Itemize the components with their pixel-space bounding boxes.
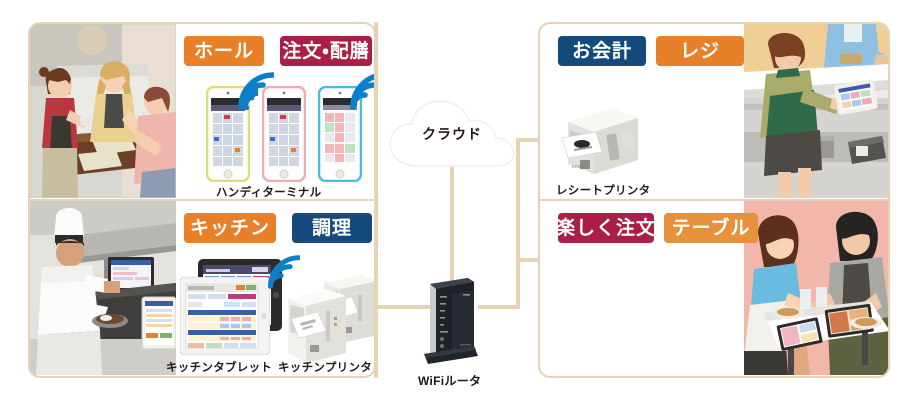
caption-kitchen-printer: キッチンプリンタ (278, 359, 372, 375)
illustration-customers-table-ordering (744, 201, 890, 375)
illustration-chef-cooking (30, 201, 176, 375)
system-diagram: ホール 注文・配膳 (0, 0, 920, 400)
badge-fun-ordering[interactable]: 楽しく注文 (558, 213, 654, 243)
kitchen-printer-1[interactable] (282, 285, 348, 370)
panel-hall: ホール 注文・配膳 (28, 22, 376, 200)
badge-hall[interactable]: ホール (184, 36, 264, 66)
wifi-signal-icon (236, 72, 274, 115)
badge-checkout[interactable]: お会計 (558, 36, 646, 66)
illustration-waitress-taking-order (30, 24, 176, 198)
wire-cloud-to-router (450, 158, 454, 288)
badge-register[interactable]: レジ (656, 36, 744, 66)
caption-kitchen-tablet: キッチンタブレット (166, 359, 272, 375)
wire-right-riser (516, 140, 520, 309)
badge-kitchen[interactable]: キッチン (184, 213, 276, 243)
illustration-cashier-at-register (744, 24, 890, 198)
svg-text:EPSON: EPSON (572, 164, 586, 169)
caption-wifi-router: WiFiルータ (418, 372, 481, 389)
wifi-router[interactable] (416, 272, 484, 373)
caption-handy-terminal: ハンディターミナル (216, 184, 321, 200)
badge-table[interactable]: テーブル (664, 213, 758, 243)
kitchen-tablet-white[interactable] (180, 277, 270, 360)
wire-router-to-right-riser (478, 305, 520, 309)
receipt-printer[interactable]: EPSON (556, 102, 642, 183)
panel-table-order: 楽しく注文 テーブル (538, 200, 890, 378)
wifi-signal-icon (348, 72, 376, 115)
panel-kitchen: キッチン 調理 (28, 200, 376, 378)
cloud-label: クラウド (388, 124, 516, 144)
panel-register: お会計 レジ EPSON レシートプリンタ (538, 22, 890, 200)
caption-receipt-printer: レシートプリンタ (556, 182, 650, 198)
cloud-node: クラウド (388, 96, 516, 170)
badge-cooking[interactable]: 調理 (292, 213, 372, 243)
badge-order-serving[interactable]: 注文・配膳 (280, 36, 372, 66)
